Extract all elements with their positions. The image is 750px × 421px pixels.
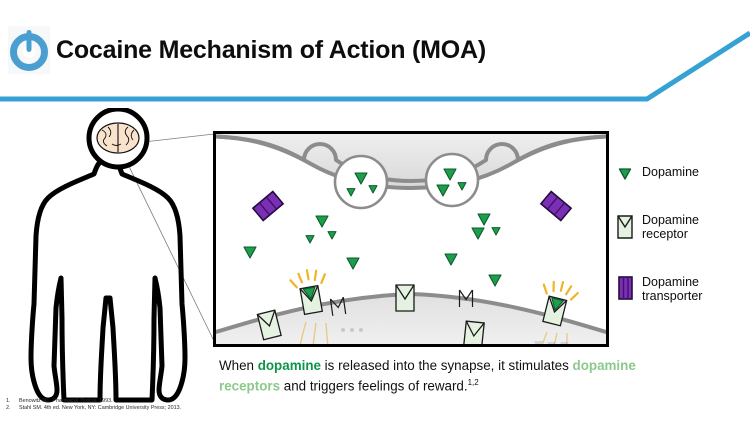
dopamine-transporter [541,192,571,221]
dopamine-receptor [396,285,414,311]
legend-item-dopamine: Dopamine [612,165,699,181]
brain-icon [97,123,139,153]
footnote-2: 2. Stahl SM. 4th ed. New York, NY: Cambr… [6,405,426,412]
caption-superscript: 1,2 [468,378,479,387]
caption-part1: When [219,358,258,373]
caption-part2: is released into the synapse, it stimula… [321,358,573,373]
free-dopamine [445,254,457,265]
legend-label-receptor-line2: receptor [642,227,688,241]
free-dopamine [489,275,501,286]
power-button-logo-icon [8,26,50,74]
dopamine-transporter [253,192,283,221]
free-dopamine [347,258,359,269]
footnote-number: 2. [6,405,19,412]
footnote-author: Stahl SM. 4th ed. New York, NY: Cambridg… [19,405,181,411]
dopamine-triangle-icon [612,165,638,181]
legend-label-transporter-line2: transporter [642,289,702,303]
footnote-number: 1. [6,398,19,405]
legend-label-dopamine: Dopamine [638,165,699,179]
page-title: Cocaine Mechanism of Action (MOA) [56,36,486,65]
footnote-journal: Pharmacol Toxicol [52,398,96,404]
dopamine-receptor-icon [612,213,638,241]
figure-caption: When dopamine is released into the synap… [219,357,639,394]
vesicle [426,154,478,206]
footnotes: 1. Benowitz NL. Pharmacol Toxicol. 1993.… [6,398,426,413]
free-dopamine [244,247,256,258]
footnote-1: 1. Benowitz NL. Pharmacol Toxicol. 1993. [6,398,426,405]
dopamine-receptor [464,321,485,344]
legend-label-receptor-line1: Dopamine [642,213,699,227]
synapse-diagram-panel [213,131,609,347]
footnote-rest: . 1993. [96,398,113,404]
vesicle [335,156,387,208]
caption-part3: and triggers feelings of reward. [280,378,468,393]
legend-label-transporter-line1: Dopamine [642,275,699,289]
caption-highlight-dopamine: dopamine [258,358,321,373]
human-body-silhouette [18,108,218,403]
slide-root: Cocaine Mechanism of Action (MOA) [0,0,750,421]
legend-item-dopamine-receptor: Dopamine receptor [612,213,699,241]
footnote-author: Benowitz NL. [19,398,52,404]
legend-item-dopamine-transporter: Dopamine transporter [612,275,702,303]
dopamine-transporter-icon [612,275,638,301]
